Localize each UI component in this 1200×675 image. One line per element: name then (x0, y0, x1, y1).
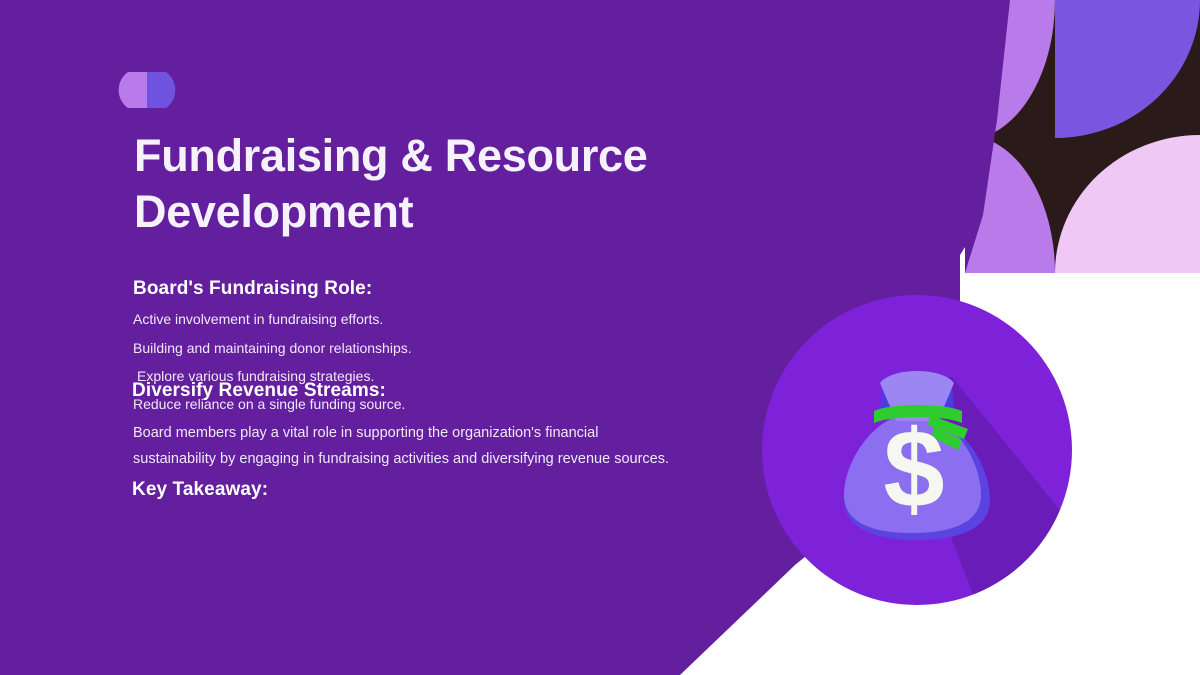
slide-title: Fundraising & Resource Development (134, 128, 754, 240)
dollar-symbol: $ (883, 408, 944, 531)
paragraph-line-2: sustainability by engaging in fundraisin… (133, 451, 669, 467)
slide-canvas: Fundraising & Resource Development Board… (0, 0, 1200, 675)
bullet-reduce-reliance: Reduce reliance on a single funding sour… (133, 396, 405, 412)
section-heading-board-role: Board's Fundraising Role: (133, 278, 372, 300)
section-heading-key-takeaway: Key Takeaway: (132, 479, 268, 501)
decorative-quadrant-bottom-right (1055, 135, 1200, 273)
slide-title-line-2: Development (134, 184, 754, 240)
bullet-donor-relationships: Building and maintaining donor relations… (133, 340, 412, 356)
money-bag-icon: $ (762, 295, 1072, 605)
decorative-quadrant-top-right (1055, 0, 1200, 138)
leaf-logo-icon (118, 72, 176, 108)
slide-title-line-1: Fundraising & Resource (134, 128, 754, 184)
paragraph-line-1: Board members play a vital role in suppo… (133, 425, 598, 441)
bullet-active-involvement: Active involvement in fundraising effort… (133, 311, 383, 327)
money-bag-badge: $ (762, 295, 1072, 605)
decorative-shape-cluster (965, 0, 1200, 273)
